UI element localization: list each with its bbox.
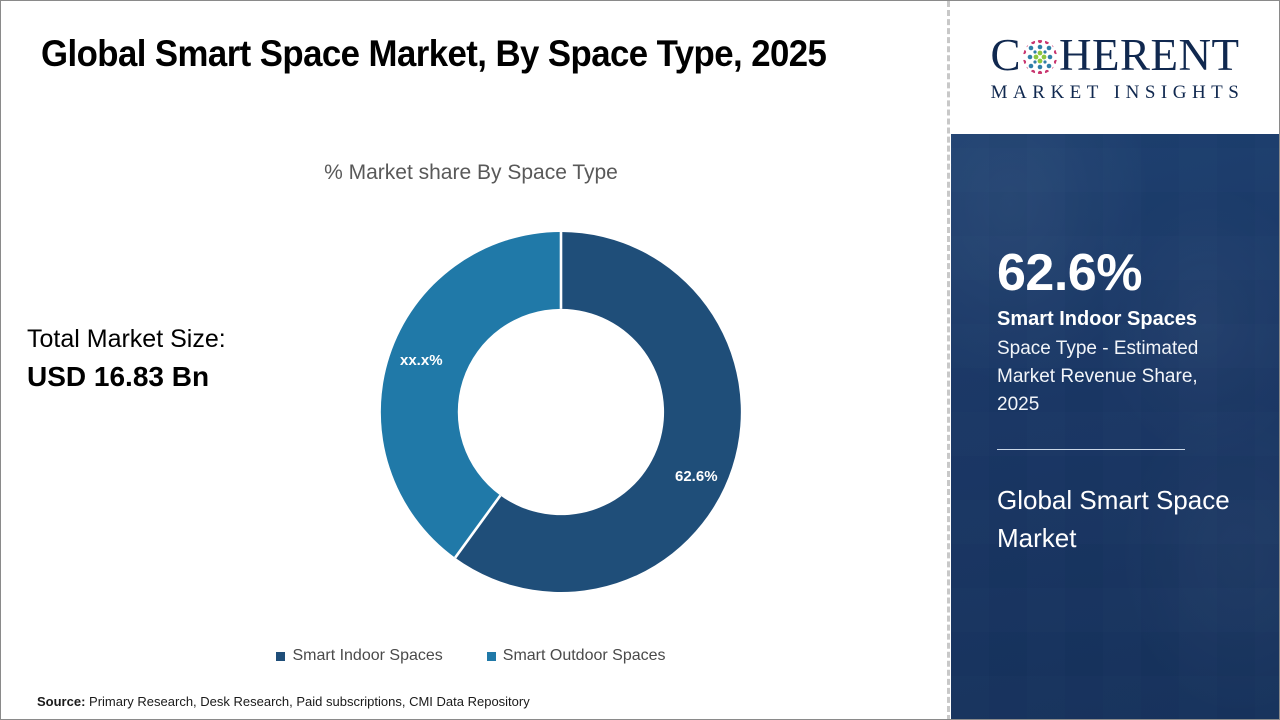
side-stat-panel: 62.6% Smart Indoor Spaces Space Type - E… — [951, 134, 1279, 720]
page-title: Global Smart Space Market, By Space Type… — [41, 33, 868, 75]
logo-tagline: MARKET INSIGHTS — [986, 82, 1245, 104]
globe-icon — [1022, 39, 1058, 75]
legend-label: Smart Outdoor Spaces — [503, 647, 666, 665]
source-note: Source: Primary Research, Desk Research,… — [37, 694, 530, 709]
legend-swatch-icon — [276, 652, 285, 661]
logo-letter-c: C — [991, 33, 1022, 78]
panel-market-name: Global Smart Space Market — [997, 482, 1232, 557]
source-text: Primary Research, Desk Research, Paid su… — [85, 694, 529, 709]
panel-divider — [997, 449, 1185, 450]
legend-item-smart-outdoor-spaces[interactable]: Smart Outdoor Spaces — [487, 647, 666, 665]
infographic-page: Global Smart Space Market, By Space Type… — [0, 0, 1280, 720]
donut-chart: xx.x% 62.6% — [378, 229, 744, 595]
logo-wordmark-text: HERENT — [1059, 33, 1239, 78]
logo-wordmark: C — [991, 32, 1240, 78]
donut-slice-smart-outdoor-spaces[interactable] — [381, 232, 561, 558]
side-panel-content: 62.6% Smart Indoor Spaces Space Type - E… — [951, 246, 1279, 557]
source-label: Source: — [37, 694, 85, 709]
stat-segment-name: Smart Indoor Spaces — [997, 307, 1279, 332]
donut-label-smart-outdoor-spaces: xx.x% — [400, 352, 443, 369]
total-market-size-value: USD 16.83 Bn — [27, 361, 209, 393]
donut-label-smart-indoor-spaces: 62.6% — [675, 468, 718, 485]
legend-label: Smart Indoor Spaces — [292, 647, 442, 665]
total-market-size-label: Total Market Size: — [27, 325, 226, 354]
legend-swatch-icon — [487, 652, 496, 661]
brand-logo[interactable]: C — [951, 2, 1279, 134]
chart-legend: Smart Indoor Spaces Smart Outdoor Spaces — [1, 647, 941, 665]
vertical-dashed-divider — [947, 1, 950, 720]
chart-subtitle: % Market share By Space Type — [1, 161, 941, 185]
stat-description: Space Type - Estimated Market Revenue Sh… — [997, 335, 1237, 419]
legend-item-smart-indoor-spaces[interactable]: Smart Indoor Spaces — [276, 647, 442, 665]
stat-percentage: 62.6% — [997, 246, 1279, 301]
donut-chart-svg — [378, 229, 744, 595]
